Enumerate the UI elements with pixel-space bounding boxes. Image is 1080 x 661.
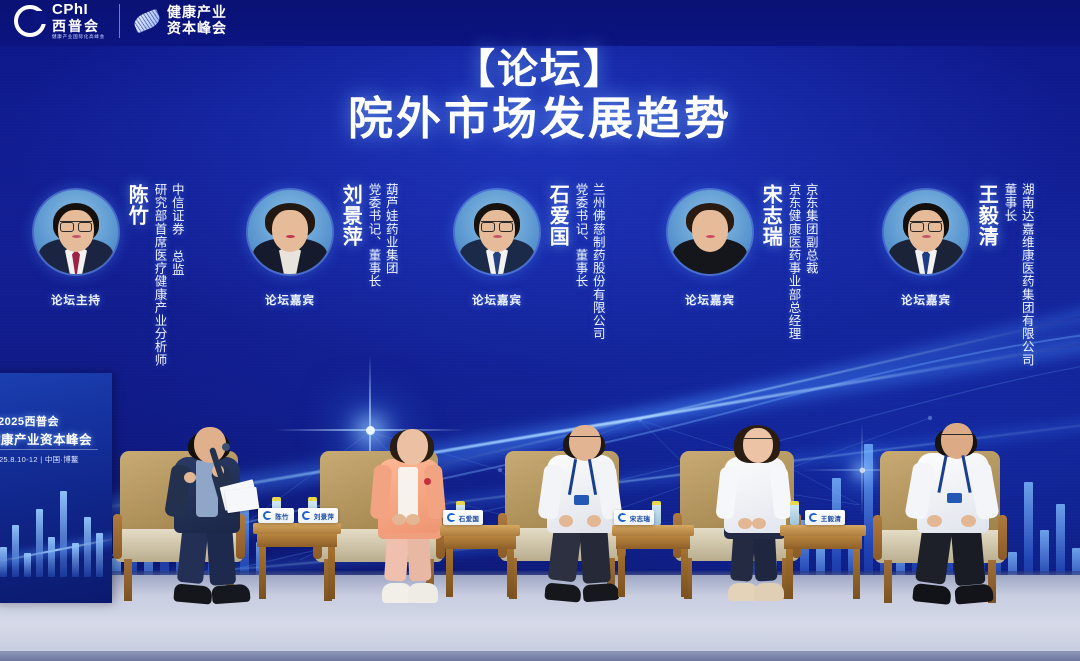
panelist-affiliation-line: 党委书记、董事长	[365, 183, 380, 288]
seated-person-host	[150, 418, 270, 603]
panelist-role: 论坛嘉宾	[884, 292, 968, 308]
panelist-card: 论坛嘉宾 宋志瑞 京东集团副总裁 京东健康医药事业部总经理	[668, 182, 818, 340]
nameplate-logo-icon	[263, 511, 272, 520]
panelist-name: 石爱国	[546, 184, 567, 247]
panelist-affiliation: 湖南达嘉维康医药集团有限公司 董事长	[999, 183, 1034, 366]
panelist-affiliation-line: 中信证券 总监	[168, 183, 183, 366]
hc-logo-line1: 健康产业	[167, 5, 227, 20]
podium-line3: 2025.8.10-12 | 中国·博鳌	[0, 454, 110, 465]
avatar	[34, 190, 118, 274]
panelist-card: 论坛嘉宾 王毅清 湖南达嘉维康医药集团有限公司 董事长	[884, 182, 1034, 366]
panelist-role: 论坛嘉宾	[248, 292, 332, 308]
nameplate-text: 陈竹	[275, 511, 289, 521]
panelist-affiliation: 葫芦娃药业集团 党委书记、董事长	[363, 183, 398, 288]
nameplate-logo-icon	[618, 513, 627, 522]
hc-logo-line2: 资本峰会	[167, 21, 227, 36]
nameplate: 宋志瑞	[614, 510, 654, 525]
nameplate-logo-icon	[447, 513, 456, 522]
nameplate-logo-icon	[302, 511, 311, 520]
cphi-logo-sub: 健康产业国际化高峰会	[52, 35, 105, 40]
panelist-affiliation-line: 京东健康医药事业部总经理	[785, 183, 800, 340]
side-table	[253, 523, 341, 599]
panelist-name: 刘景萍	[339, 184, 360, 247]
logo-divider	[119, 4, 120, 38]
panelist-name: 王毅清	[975, 184, 996, 247]
event-logos: CPhI 西普会 健康产业国际化高峰会 健康产业 资本峰会	[14, 2, 227, 40]
panelist-card: 论坛嘉宾 刘景萍 葫芦娃药业集团 党委书记、董事长	[248, 182, 398, 288]
panelist-role: 论坛嘉宾	[455, 292, 539, 308]
cphi-logo-en: CPhI	[52, 2, 105, 17]
avatar	[455, 190, 539, 274]
panelist-affiliation-line: 京东集团副总裁	[802, 183, 817, 340]
podium-chart-graphic	[0, 485, 112, 577]
podium-line2: 健康产业资本峰会	[0, 429, 112, 448]
nameplate-text: 刘景萍	[314, 511, 334, 521]
nameplate: 刘景萍	[298, 508, 338, 523]
avatar	[884, 190, 968, 274]
forum-title-line2: 院外市场发展趋势	[0, 93, 1080, 145]
panelist-card: 论坛主持 陈竹 中信证券 总监 研究部首席医疗健康产业分析师	[34, 182, 184, 366]
seated-person-panelist	[895, 419, 1017, 603]
panelist-affiliation-line: 董事长	[1001, 183, 1016, 366]
side-table	[612, 525, 694, 597]
panelist-affiliation: 京东集团副总裁 京东健康医药事业部总经理	[783, 183, 818, 340]
panelist-cards: 论坛主持 陈竹 中信证券 总监 研究部首席医疗健康产业分析师 论坛嘉宾 刘景萍	[0, 182, 1080, 432]
nameplate-text: 石爱国	[459, 513, 479, 523]
nameplate-logo-icon	[809, 513, 818, 522]
nameplate-text: 王毅清	[821, 513, 841, 523]
ring-logo-icon	[14, 5, 46, 37]
podium-line1: 2025西普会	[0, 413, 110, 429]
panelist-role: 论坛主持	[34, 292, 118, 308]
cphi-logo: CPhI 西普会 健康产业国际化高峰会	[14, 2, 105, 40]
stage-floor-edge	[0, 651, 1080, 661]
panelist-name: 陈竹	[125, 184, 146, 226]
panelist-affiliation-line: 湖南达嘉维康医药集团有限公司	[1018, 183, 1033, 366]
panelist-affiliation: 兰州佛慈制药股份有限公司 党委书记、董事长	[570, 183, 605, 340]
leaf-icon	[132, 9, 162, 34]
side-table	[780, 525, 866, 599]
panelist-affiliation: 中信证券 总监 研究部首席医疗健康产业分析师	[149, 183, 184, 366]
side-table	[440, 525, 520, 597]
podium-banner: 2025西普会 健康产业资本峰会 2025.8.10-12 | 中国·博鳌	[0, 373, 112, 603]
panelist-affiliation-line: 党委书记、董事长	[572, 183, 587, 340]
forum-title-line1: 【论坛】	[0, 48, 1080, 91]
nameplate-text: 宋志瑞	[630, 513, 650, 523]
badge-icon	[574, 495, 589, 505]
panelist-role: 论坛嘉宾	[668, 292, 752, 308]
avatar	[248, 190, 332, 274]
nameplate: 王毅清	[805, 510, 845, 525]
panelist-affiliation-line: 研究部首席医疗健康产业分析师	[151, 183, 166, 366]
health-capital-summit-logo: 健康产业 资本峰会	[134, 5, 227, 36]
water-bottle	[790, 501, 799, 525]
panelist-card: 论坛嘉宾 石爱国 兰州佛慈制药股份有限公司 党委书记、董事长	[455, 182, 605, 340]
panelist-affiliation-line: 葫芦娃药业集团	[382, 183, 397, 288]
forum-title: 【论坛】 院外市场发展趋势	[0, 48, 1080, 145]
cphi-logo-cn: 西普会	[52, 19, 105, 33]
nameplate: 石爱国	[443, 510, 483, 525]
conference-stage-photo: CPhI 西普会 健康产业国际化高峰会 健康产业 资本峰会 【论坛】 院外市场发…	[0, 0, 1080, 661]
document-papers	[225, 487, 260, 513]
panelist-name: 宋志瑞	[759, 184, 780, 247]
badge-icon	[947, 493, 962, 503]
avatar	[668, 190, 752, 274]
panelist-affiliation-line: 兰州佛慈制药股份有限公司	[589, 183, 604, 340]
nameplate: 陈竹	[258, 508, 294, 523]
